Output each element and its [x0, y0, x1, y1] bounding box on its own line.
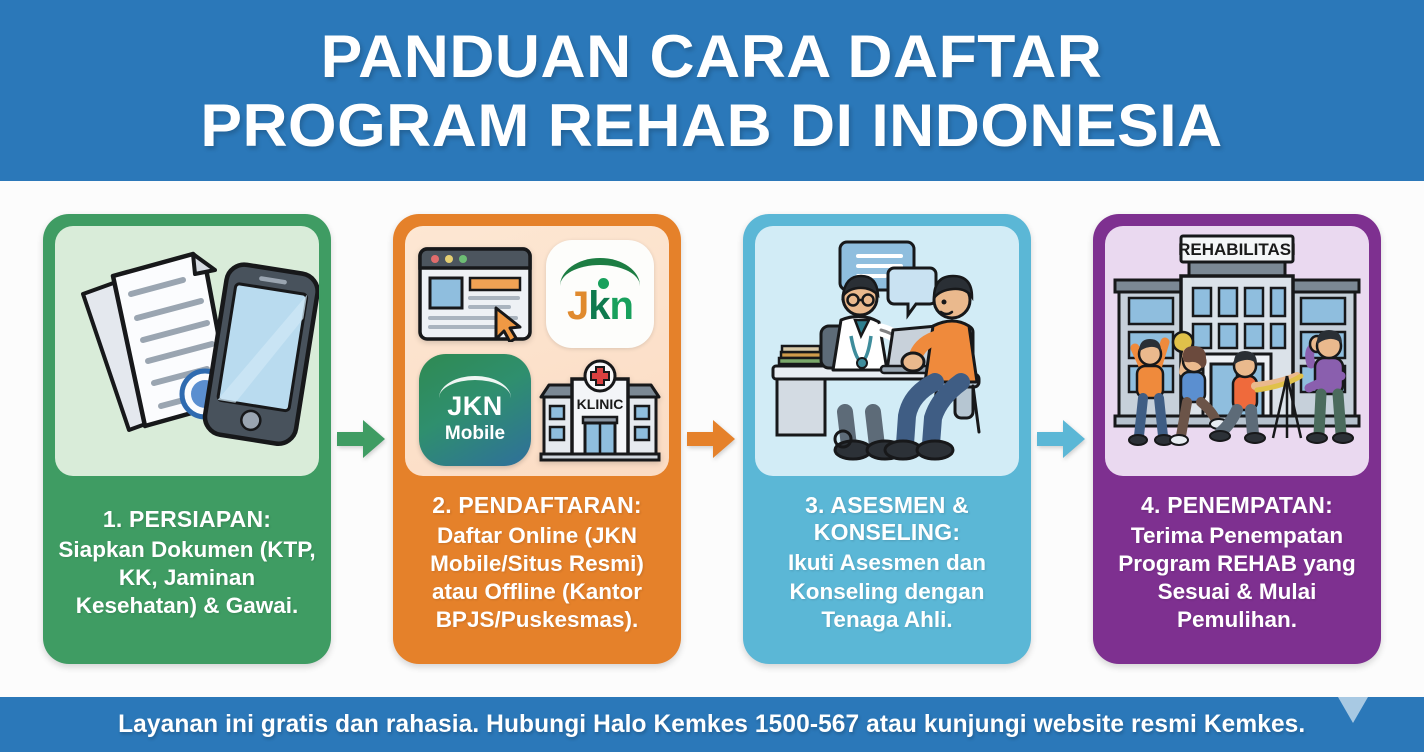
step-1-text: 1. PERSIAPAN: Siapkan Dokumen (KTP, KK, … — [53, 476, 321, 654]
svg-text:KLINIC: KLINIC — [577, 396, 624, 412]
footer-note: Layanan ini gratis dan rahasia. Hubungi … — [118, 710, 1305, 739]
doctor-consultation-icon — [755, 226, 1019, 476]
step-1-body: Siapkan Dokumen (KTP, KK, Jaminan Keseha… — [57, 536, 317, 620]
jkn-dot-shape — [598, 278, 609, 289]
step-4-body: Terima Penempatan Program REHAB yang Ses… — [1107, 522, 1367, 635]
title-line-1: PANDUAN CARA DAFTAR — [321, 23, 1103, 90]
step-card-pendaftaran[interactable]: Jkn JKN Mobile — [393, 214, 681, 664]
step-1-illustration — [55, 226, 319, 476]
footer-banner: Layanan ini gratis dan rahasia. Hubungi … — [0, 697, 1424, 752]
jkn-logo-icon: Jkn — [546, 240, 654, 348]
documents-and-phone-icon — [55, 226, 319, 476]
page-title: PANDUAN CARA DAFTAR PROGRAM REHAB DI IND… — [201, 22, 1223, 160]
clinic-building-icon: KLINIC — [539, 357, 661, 463]
step-3-illustration — [755, 226, 1019, 476]
step-4-heading: 4. PENEMPATAN: — [1141, 492, 1333, 519]
step-3-heading-line2: KONSELING: — [814, 519, 960, 545]
step-3-text: 3. ASESMEN & KONSELING: Ikuti Asesmen da… — [753, 476, 1021, 654]
step-2-illustration: Jkn JKN Mobile — [405, 226, 669, 476]
browser-window-icon — [417, 246, 533, 342]
step-card-persiapan[interactable]: 1. PERSIAPAN: Siapkan Dokumen (KTP, KK, … — [43, 214, 331, 664]
step-3-heading: 3. ASESMEN & KONSELING: — [805, 492, 969, 546]
jkn-logo-tile: Jkn — [539, 240, 661, 348]
jkn-mobile-label-line2: Mobile — [445, 423, 505, 445]
step-2-body: Daftar Online (JKN Mobile/Situs Resmi) a… — [407, 522, 667, 635]
step-2-text: 2. PENDAFTARAN: Daftar Online (JKN Mobil… — [403, 476, 671, 654]
step-card-2-wrapper: Jkn JKN Mobile — [393, 214, 743, 664]
arrow-step3-to-step4 — [1031, 409, 1093, 469]
step-card-1-wrapper: 1. PERSIAPAN: Siapkan Dokumen (KTP, KK, … — [43, 214, 393, 664]
step-4-illustration: REHABILITASI — [1105, 226, 1369, 476]
step-3-heading-line1: 3. ASESMEN & — [805, 492, 969, 518]
infographic-page: PANDUAN CARA DAFTAR PROGRAM REHAB DI IND… — [0, 0, 1424, 752]
step-3-body: Ikuti Asesmen dan Konseling dengan Tenag… — [757, 549, 1017, 633]
building-sign-text: REHABILITASI — [1178, 240, 1296, 259]
step-2-heading: 2. PENDAFTARAN: — [432, 492, 642, 519]
jkn-logo-text: Jkn — [567, 286, 633, 326]
footer-notch-shape — [1338, 697, 1368, 723]
jkn-mobile-arc-shape — [439, 376, 511, 398]
step-1-heading: 1. PERSIAPAN: — [103, 506, 271, 533]
registration-icons-grid: Jkn JKN Mobile — [405, 226, 669, 476]
arrow-step2-to-step3 — [681, 409, 743, 469]
rehabilitation-center-icon: REHABILITASI — [1105, 226, 1369, 476]
step-card-penempatan[interactable]: REHABILITASI — [1093, 214, 1381, 664]
jkn-mobile-app-icon: JKN Mobile — [419, 354, 531, 466]
clinic-tile: KLINIC — [539, 354, 661, 466]
step-card-4-wrapper: REHABILITASI — [1093, 214, 1381, 664]
step-4-text: 4. PENEMPATAN: Terima Penempatan Program… — [1103, 476, 1371, 654]
step-card-3-wrapper: 3. ASESMEN & KONSELING: Ikuti Asesmen da… — [743, 214, 1093, 664]
step-card-asesmen-konseling[interactable]: 3. ASESMEN & KONSELING: Ikuti Asesmen da… — [743, 214, 1031, 664]
header-banner: PANDUAN CARA DAFTAR PROGRAM REHAB DI IND… — [0, 0, 1424, 181]
title-line-2: PROGRAM REHAB DI INDONESIA — [201, 91, 1223, 160]
browser-tile — [417, 240, 533, 348]
arrow-step1-to-step2 — [331, 409, 393, 469]
steps-row: 1. PERSIAPAN: Siapkan Dokumen (KTP, KK, … — [0, 181, 1424, 697]
jkn-mobile-tile: JKN Mobile — [417, 354, 533, 466]
